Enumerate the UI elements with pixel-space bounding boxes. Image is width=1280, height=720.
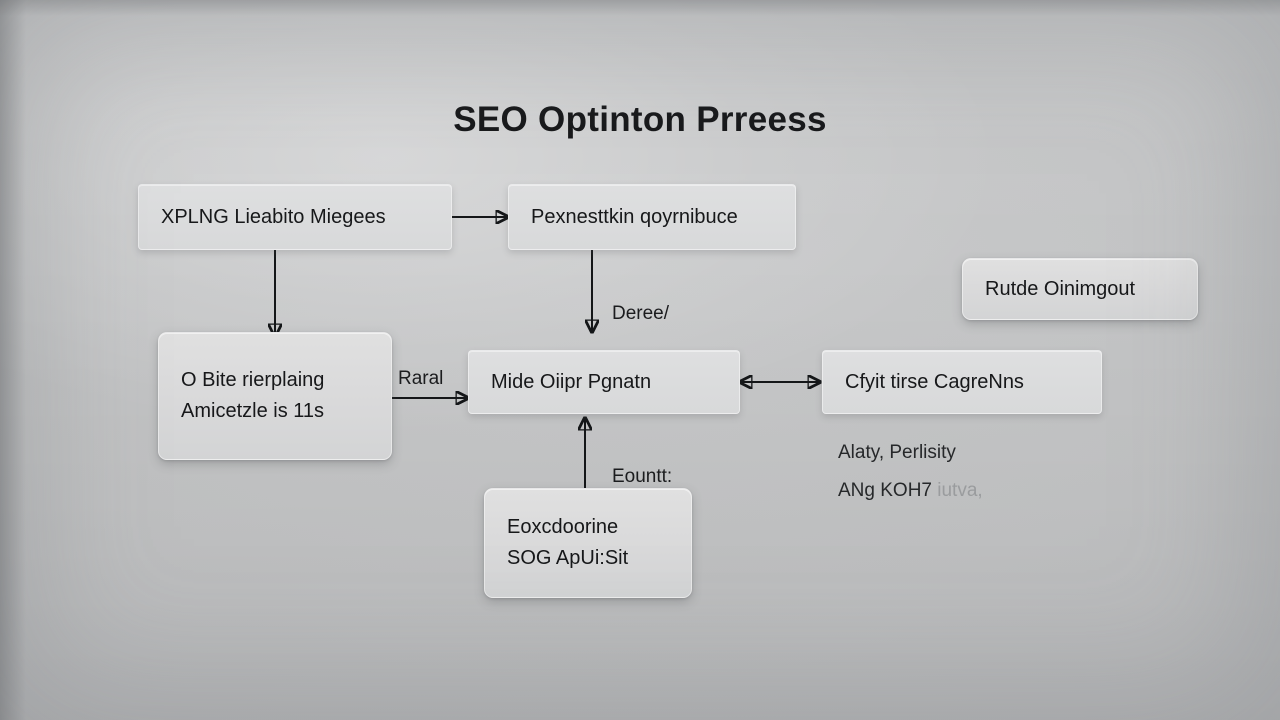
node-rank-tracking[interactable]: Rutde Oinimgout: [962, 258, 1198, 320]
node-on-page[interactable]: O Bite rierplaing Amicetzle is 11s: [158, 332, 392, 460]
node-on-page-label-line2: Amicetzle is 11s: [181, 396, 324, 427]
node-rank-tracking-label: Rutde Oinimgout: [985, 274, 1135, 305]
top-edge-shade: [0, 0, 1280, 16]
node-technical-seo-label-line1: Eoxcdoorine: [507, 512, 618, 543]
node-site-optimization[interactable]: Mide Oiipr Pgnatn: [468, 350, 740, 414]
diagram-canvas: SEO Optinton Prreess XPLNG Lieabito Mieg…: [0, 0, 1280, 720]
node-link-building-label: Cfyit tirse CagreNns: [845, 367, 1024, 398]
node-content-audit[interactable]: Pexnesttkin qoyrnibuce: [508, 184, 796, 250]
node-link-building[interactable]: Cfyit tirse CagreNns: [822, 350, 1102, 414]
note-line-2: ANg KOH7 iutva,: [838, 480, 983, 502]
edge-label-bottom-to-center: Eountt:: [612, 466, 672, 488]
node-technical-seo[interactable]: Eoxcdoorine SOG ApUi:Sit: [484, 488, 692, 598]
note-line-2-solid: ANg KOH7: [838, 480, 932, 501]
edge-label-left-to-center: Raral: [398, 368, 443, 390]
edge-label-vertical-center: Deree/: [612, 303, 669, 325]
node-site-optimization-label: Mide Oiipr Pgnatn: [491, 367, 651, 398]
node-content-audit-label: Pexnesttkin qoyrnibuce: [531, 202, 738, 233]
page-title: SEO Optinton Prreess: [0, 100, 1280, 140]
node-on-page-label-line1: O Bite rierplaing: [181, 365, 324, 396]
note-line-1: Alaty, Perlisity: [838, 442, 956, 464]
node-technical-seo-label-line2: SOG ApUi:Sit: [507, 543, 628, 574]
node-keyword-research[interactable]: XPLNG Lieabito Miegees: [138, 184, 452, 250]
note-line-2-faded: iutva,: [937, 480, 982, 501]
node-keyword-research-label: XPLNG Lieabito Miegees: [161, 202, 386, 233]
